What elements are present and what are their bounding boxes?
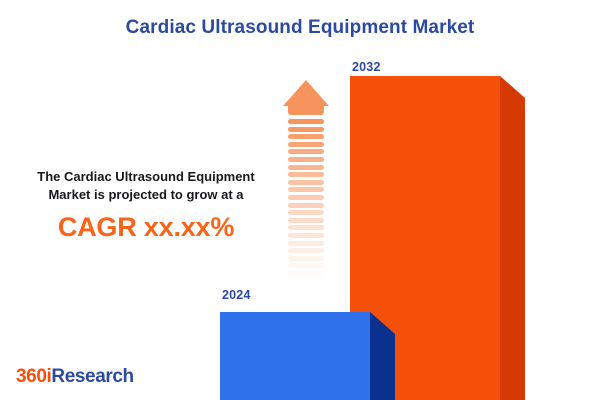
arrow-shaft-segment [288,165,324,170]
brand-logo[interactable]: 360iResearch [16,366,134,388]
arrow-shaft-segment [288,149,324,154]
cagr-lead-line-1: The Cardiac Ultrasound Equipment [12,168,280,186]
arrow-shaft-segment [288,157,324,162]
arrow-shaft-segment [288,172,324,177]
arrow-shaft-segment [288,210,324,215]
arrow-shaft-segment [288,180,324,185]
arrow-shaft-segment [288,119,324,124]
arrow-shaft-segment [288,134,324,139]
arrow-shaft-segment [288,203,324,208]
arrow-head-icon [283,80,329,106]
arrow-shaft-segment [288,225,324,230]
arrow-shaft-segment [288,263,324,268]
market-infographic: Cardiac Ultrasound Equipment Market 2032… [0,0,600,400]
bar-2024-front-face [220,312,370,400]
arrow-shaft-segment [288,218,324,223]
arrow-shaft-segment [288,187,324,192]
arrow-shaft-segment [288,271,324,276]
arrow-shaft-segment [288,241,324,246]
arrow-shaft [288,119,324,280]
bar-2032-side-face [500,76,525,400]
arrow-shaft-segment [288,233,324,238]
cagr-callout: The Cardiac Ultrasound Equipment Market … [12,168,280,243]
arrow-shaft-segment [288,248,324,253]
cagr-value: CAGR xx.xx% [12,212,280,243]
brand-logo-secondary: Research [51,366,133,387]
arrow-shaft-segment [288,127,324,132]
growth-arrow-icon [283,80,329,280]
bar-2024-side-face [370,312,395,400]
year-label-2024: 2024 [222,288,251,302]
arrow-shaft-segment [288,195,324,200]
arrow-neck [288,106,324,115]
arrow-shaft-segment [288,256,324,261]
arrow-shaft-segment [288,142,324,147]
bar-2024 [220,312,395,400]
arrow-shaft-segment [288,278,324,283]
year-label-2032: 2032 [352,60,381,74]
cagr-lead-line-2: Market is projected to grow at a [12,186,280,204]
page-title: Cardiac Ultrasound Equipment Market [0,17,600,39]
brand-logo-primary: 360i [16,366,51,387]
